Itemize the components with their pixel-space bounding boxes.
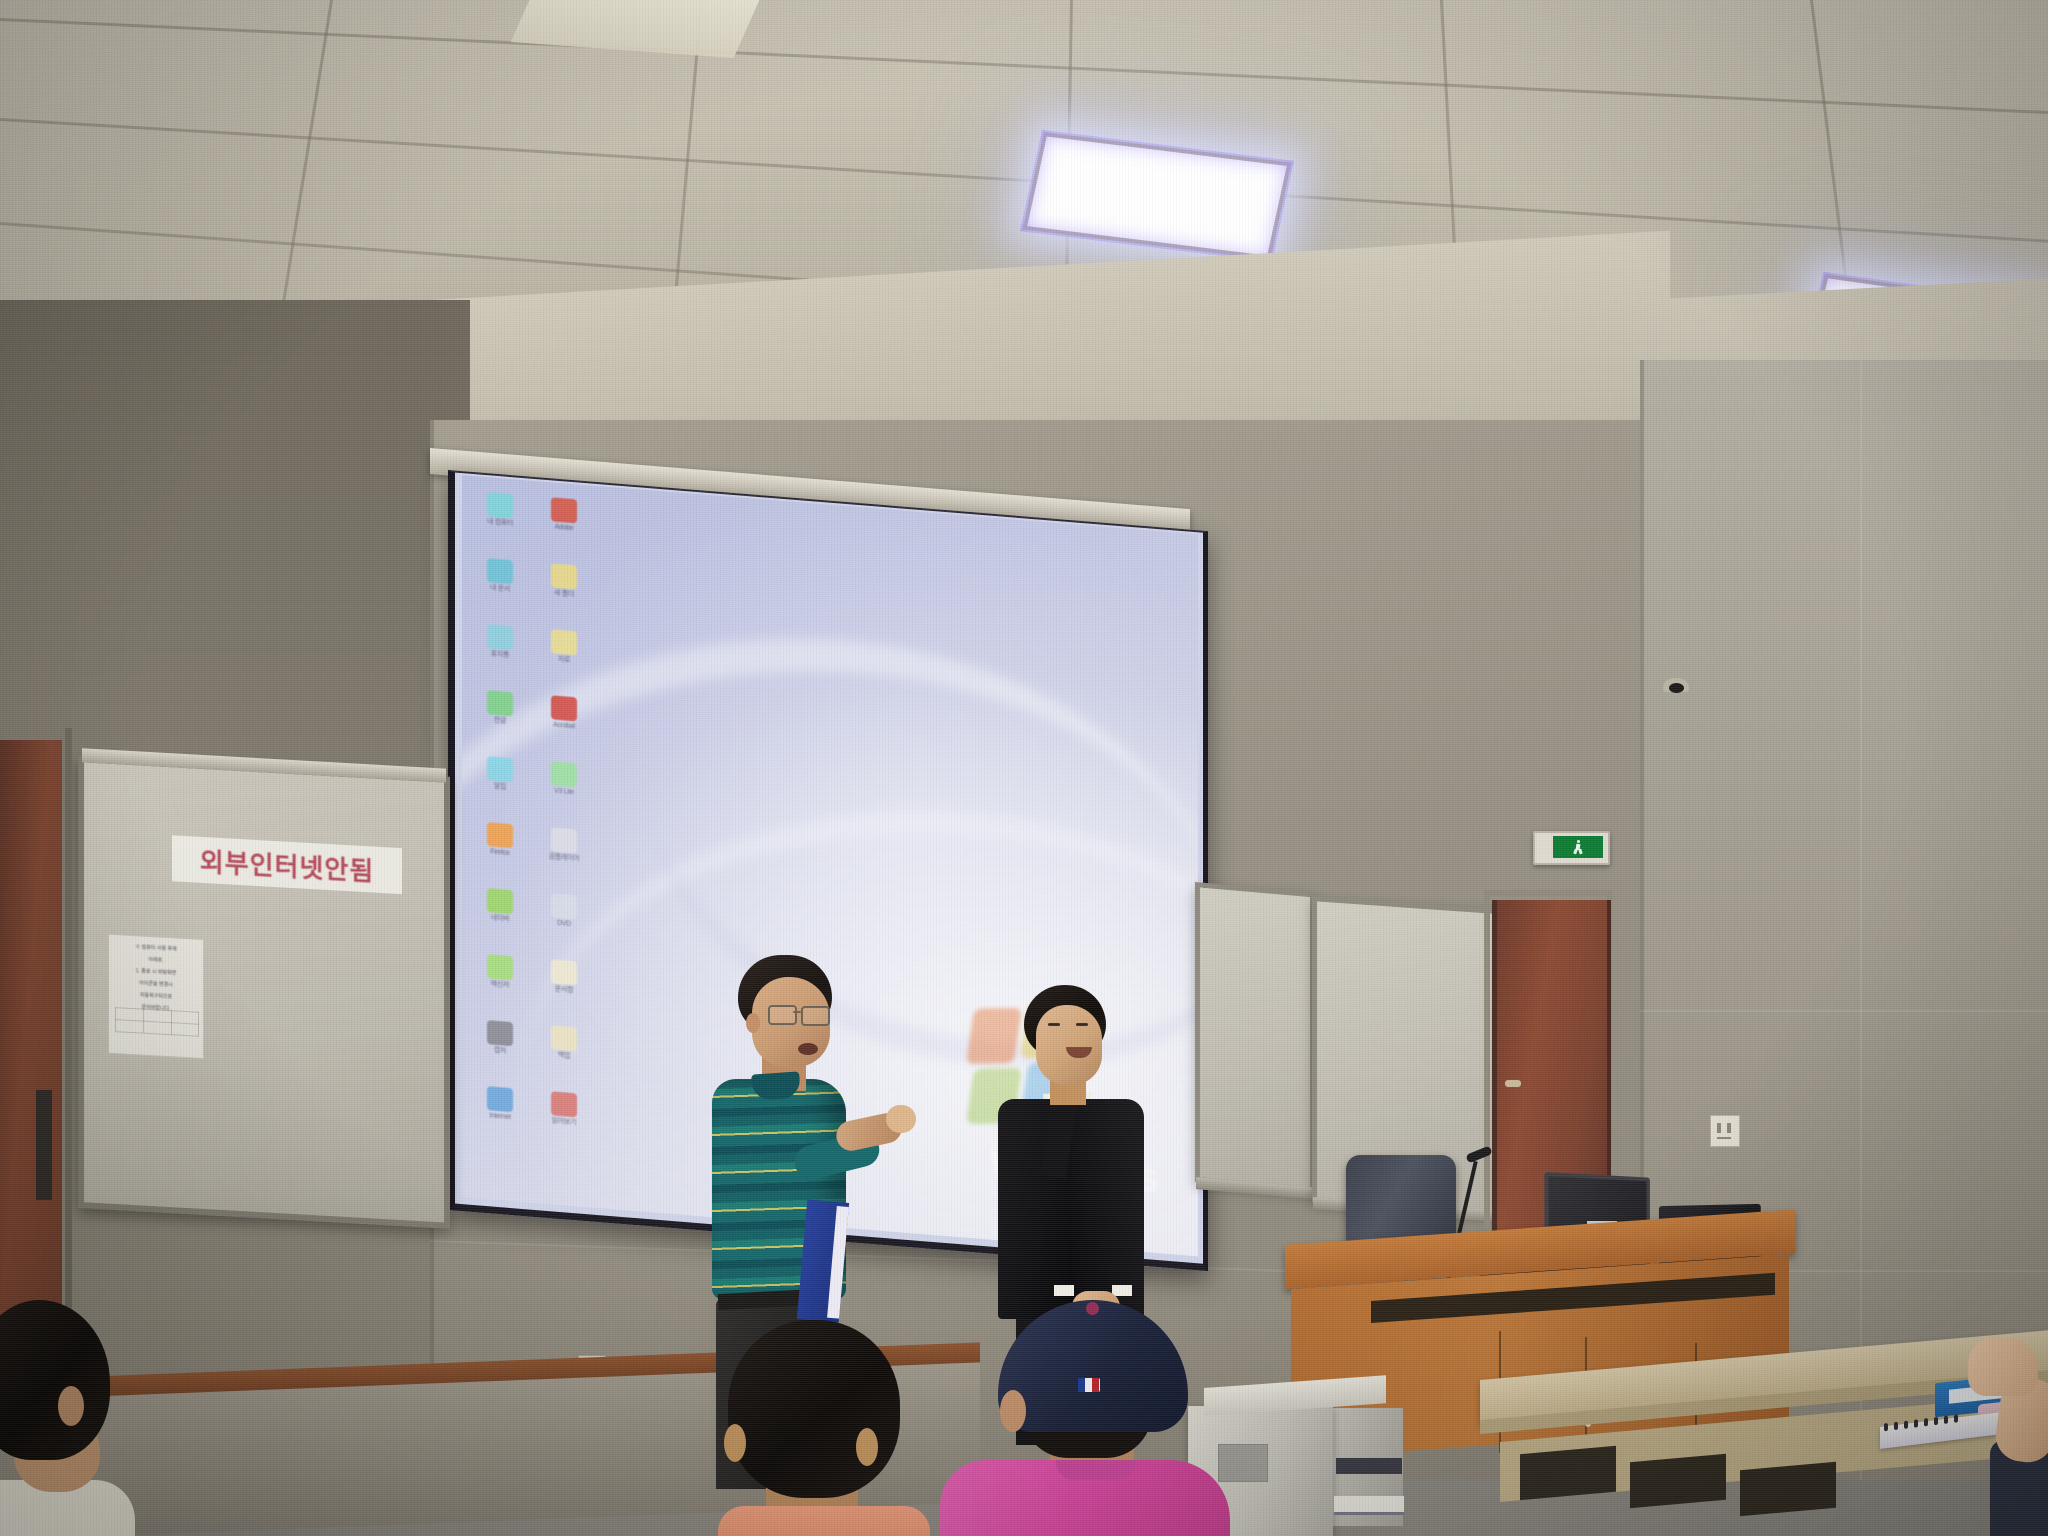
desktop-icon-label: 메신저 (472, 979, 528, 992)
desktop-icon-label: 내 문서 (472, 583, 528, 596)
audience-head (728, 1320, 900, 1498)
exit-sign-pane (1553, 836, 1603, 858)
desktop-icon-glyph (551, 1025, 577, 1051)
dome-security-camera (1663, 678, 1689, 692)
polo-collar (1056, 1460, 1136, 1480)
desktop-icon[interactable]: 백업 (536, 1021, 592, 1092)
blue-folder (797, 1199, 849, 1322)
desktop-icon-grid[interactable]: 내 컴퓨터Adobe내 문서새 폴더휴지통자료한글Acrobat알집V3 Lit… (472, 488, 592, 1158)
emergency-exit-sign (1533, 831, 1610, 865)
left-whiteboard: 외부인터넷안됨 ※ 컴퓨터 사용 후에 아래로. 1. 종료 시 바탕화면 아이… (78, 756, 450, 1229)
notice-line: ※ 컴퓨터 사용 후에 (115, 943, 197, 955)
desktop-icon-glyph (487, 888, 513, 914)
desktop-icon-label: 자료 (536, 654, 592, 667)
desktop-icon-glyph (551, 761, 577, 787)
desktop-icon[interactable]: Internet (472, 1082, 528, 1153)
desktop-icon[interactable]: Adobe (536, 493, 592, 564)
whiteboard-banner: 외부인터넷안됨 (172, 835, 402, 894)
desktop-icon-label: Internet (472, 1111, 528, 1124)
desktop-icon-glyph (487, 1020, 513, 1046)
audience-member-left (0, 1300, 135, 1536)
audience-head (0, 1300, 110, 1460)
desktop-icon[interactable]: DVD (536, 889, 592, 960)
door-handle[interactable] (1505, 1080, 1521, 1087)
desktop-icon-glyph (487, 690, 513, 716)
notice-line: 1. 종료 시 바탕화면 (115, 967, 197, 979)
desktop-icon-label: 곰플레이어 (536, 852, 592, 865)
speaker-eye (1076, 1023, 1088, 1026)
presenter-mouth (798, 1043, 818, 1055)
audience-hand-right (1968, 1338, 2048, 1458)
desktop-icon-glyph (487, 492, 513, 518)
desktop-icon-glyph (551, 497, 577, 523)
speaker-eye (1048, 1023, 1060, 1026)
desktop-icon[interactable]: 문서함 (536, 955, 592, 1026)
shirt-cuff (1112, 1285, 1132, 1296)
desktop-icon-label: 백업 (536, 1050, 592, 1063)
presenter-hand (886, 1105, 916, 1133)
desktop-icon[interactable]: 알집 (472, 752, 528, 823)
desktop-icon-label: Firefox (472, 847, 528, 860)
desktop-icon-glyph (551, 563, 577, 589)
desktop-icon-glyph (551, 959, 577, 985)
desktop-icon[interactable]: 네이버 (472, 884, 528, 955)
desktop-icon[interactable]: 새 폴더 (536, 559, 592, 630)
table-cubby (1630, 1454, 1726, 1508)
audience-ear (856, 1428, 878, 1466)
audience-ear (1000, 1390, 1026, 1432)
desktop-icon[interactable]: Acrobat (536, 691, 592, 762)
desktop-icon[interactable]: 읽어보기 (536, 1087, 592, 1158)
audience-ear (724, 1424, 746, 1462)
desktop-icon-label: 새 폴더 (536, 588, 592, 601)
desktop-icon-label: 알집 (472, 781, 528, 794)
desktop-icon-glyph (487, 756, 513, 782)
classroom-photo: 내 컴퓨터Adobe내 문서새 폴더휴지통자료한글Acrobat알집V3 Lit… (0, 0, 2048, 1536)
whiteboard-banner-text: 외부인터넷안됨 (200, 841, 374, 888)
desktop-icon-label: 문서함 (536, 984, 592, 997)
door-edge-strip (36, 1090, 52, 1200)
notice-line: 아래로. (115, 955, 197, 967)
desktop-icon-label: 휴지통 (472, 649, 528, 662)
desktop-icon-glyph (551, 893, 577, 919)
shirt-cuff (1054, 1285, 1074, 1296)
desktop-icon-label: 캡처 (472, 1045, 528, 1058)
desktop-icon[interactable]: 내 문서 (472, 554, 528, 625)
mlb-logo-icon (1078, 1378, 1100, 1392)
desktop-icon[interactable]: 내 컴퓨터 (472, 488, 528, 559)
desktop-icon[interactable]: 곰플레이어 (536, 823, 592, 894)
audience-palm (1968, 1338, 2038, 1396)
notice-paper: ※ 컴퓨터 사용 후에 아래로. 1. 종료 시 바탕화면 아이콘을 변경시 자… (108, 934, 204, 1059)
desktop-icon-glyph (551, 629, 577, 655)
audience-ear (58, 1386, 84, 1426)
eyeglasses-icon (768, 1005, 830, 1022)
baseball-cap (998, 1300, 1188, 1432)
desktop-icon-glyph (487, 954, 513, 980)
desktop-icon[interactable]: V3 Lite (536, 757, 592, 828)
printer-control-panel[interactable] (1218, 1444, 1268, 1482)
running-person-icon (1574, 840, 1583, 855)
notice-line: 아이콘을 변경시 (115, 979, 197, 991)
notice-table-grid (115, 1007, 197, 1048)
desktop-icon-label: Adobe (536, 522, 592, 535)
wall-panel-line (1860, 360, 1862, 1480)
desktop-icon-glyph (551, 1091, 577, 1117)
desktop-icon-label: V3 Lite (536, 786, 592, 799)
desktop-icon-glyph (551, 695, 577, 721)
notice-line: 자동복구되므로 (115, 991, 197, 1003)
desktop-icon[interactable]: 휴지통 (472, 620, 528, 691)
desktop-icon-label: 읽어보기 (536, 1116, 592, 1129)
desktop-icon-glyph (487, 624, 513, 650)
desktop-icon-label: DVD (536, 918, 592, 931)
desktop-icon-glyph (487, 822, 513, 848)
camera-lens-icon (1669, 683, 1684, 693)
desktop-icon-glyph (551, 827, 577, 853)
printer-output-slot (1336, 1458, 1402, 1474)
desktop-icon-glyph (487, 558, 513, 584)
wall-panel-line (1640, 1010, 2048, 1012)
desktop-icon[interactable]: Firefox (472, 818, 528, 889)
speaker-face (1036, 1005, 1102, 1085)
wall-power-outlet-right[interactable] (1710, 1115, 1740, 1147)
desktop-icon[interactable]: 캡처 (472, 1016, 528, 1087)
desktop-icon-label: Acrobat (536, 720, 592, 733)
audience-member-with-cap (960, 1300, 1220, 1536)
suit-jacket-right (1072, 1099, 1144, 1321)
audience-shirt (718, 1506, 930, 1536)
desktop-icon[interactable]: 메신저 (472, 950, 528, 1021)
printer-paper-tray[interactable] (1334, 1496, 1404, 1515)
desktop-icon[interactable]: 자료 (536, 625, 592, 696)
desktop-icon-label: 네이버 (472, 913, 528, 926)
presenter-ear (746, 1013, 760, 1033)
audience-member-orange-shirt (700, 1320, 930, 1536)
table-cubby (1740, 1462, 1836, 1516)
desktop-icon-label: 내 컴퓨터 (472, 517, 528, 530)
desktop-icon-label: 한글 (472, 715, 528, 728)
desktop-icon[interactable]: 한글 (472, 686, 528, 757)
desktop-icon-glyph (487, 1086, 513, 1112)
table-cubby (1520, 1446, 1616, 1500)
right-whiteboard-panel-left (1195, 882, 1315, 1192)
cap-button (1086, 1302, 1099, 1315)
